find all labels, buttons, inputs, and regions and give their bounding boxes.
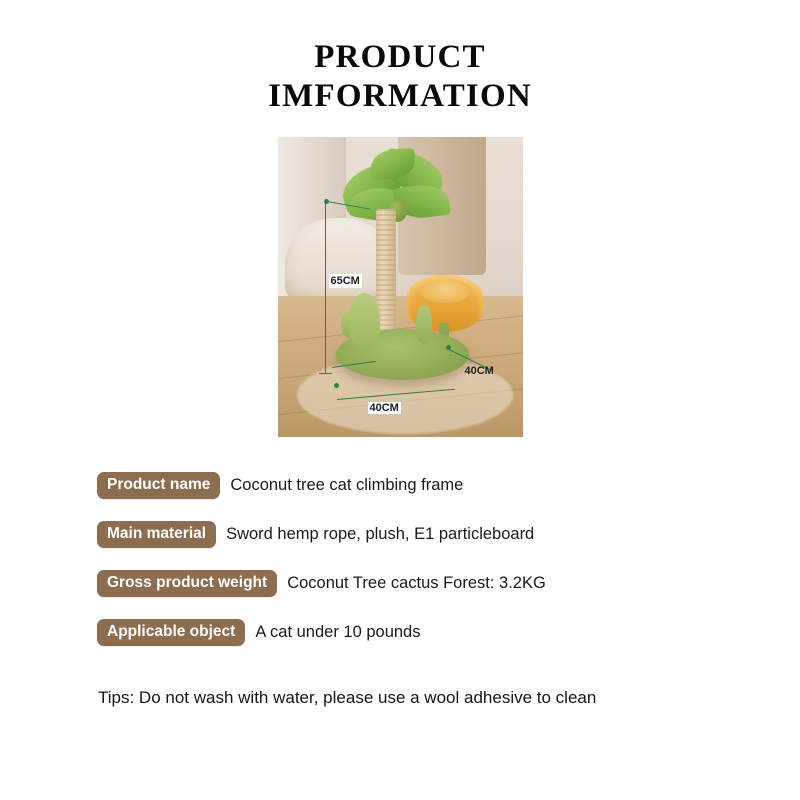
page-title-line-1: PRODUCT <box>0 38 800 77</box>
dimension-tick-height-bottom <box>319 373 332 374</box>
spec-row-main-material: Main material Sword hemp rope, plush, E1… <box>97 510 800 559</box>
page-title-line-2: IMFORMATION <box>0 77 800 116</box>
spec-value-applicable-object: A cat under 10 pounds <box>245 623 420 642</box>
spec-row-gross-product-weight: Gross product weight Coconut Tree cactus… <box>97 559 800 608</box>
spec-row-product-name: Product name Coconut tree cat climbing f… <box>97 461 800 510</box>
product-image: 65CM 40CM 40CM <box>278 137 523 437</box>
dimension-dot-width-start <box>334 383 339 388</box>
cactus-right <box>416 305 432 344</box>
specs-list: Product name Coconut tree cat climbing f… <box>0 461 800 657</box>
spec-value-product-name: Coconut tree cat climbing frame <box>220 476 463 495</box>
dimension-label-width: 40CM <box>368 402 401 414</box>
dimension-line-height <box>325 201 326 373</box>
spec-value-main-material: Sword hemp rope, plush, E1 particleboard <box>216 525 534 544</box>
spec-row-applicable-object: Applicable object A cat under 10 pounds <box>97 608 800 657</box>
spec-chip-applicable-object: Applicable object <box>97 619 245 646</box>
spec-chip-gross-product-weight: Gross product weight <box>97 570 277 597</box>
dimension-label-height: 65CM <box>329 274 362 288</box>
spec-value-gross-product-weight: Coconut Tree cactus Forest: 3.2KG <box>277 574 546 593</box>
tips-text: Tips: Do not wash with water, please use… <box>0 685 756 711</box>
spec-chip-product-name: Product name <box>97 472 220 499</box>
cactus-left <box>349 293 381 350</box>
cat-tree-illustration <box>278 137 523 437</box>
spec-chip-main-material: Main material <box>97 521 216 548</box>
dimension-label-depth: 40CM <box>465 365 494 377</box>
page-title: PRODUCT IMFORMATION <box>0 0 800 116</box>
